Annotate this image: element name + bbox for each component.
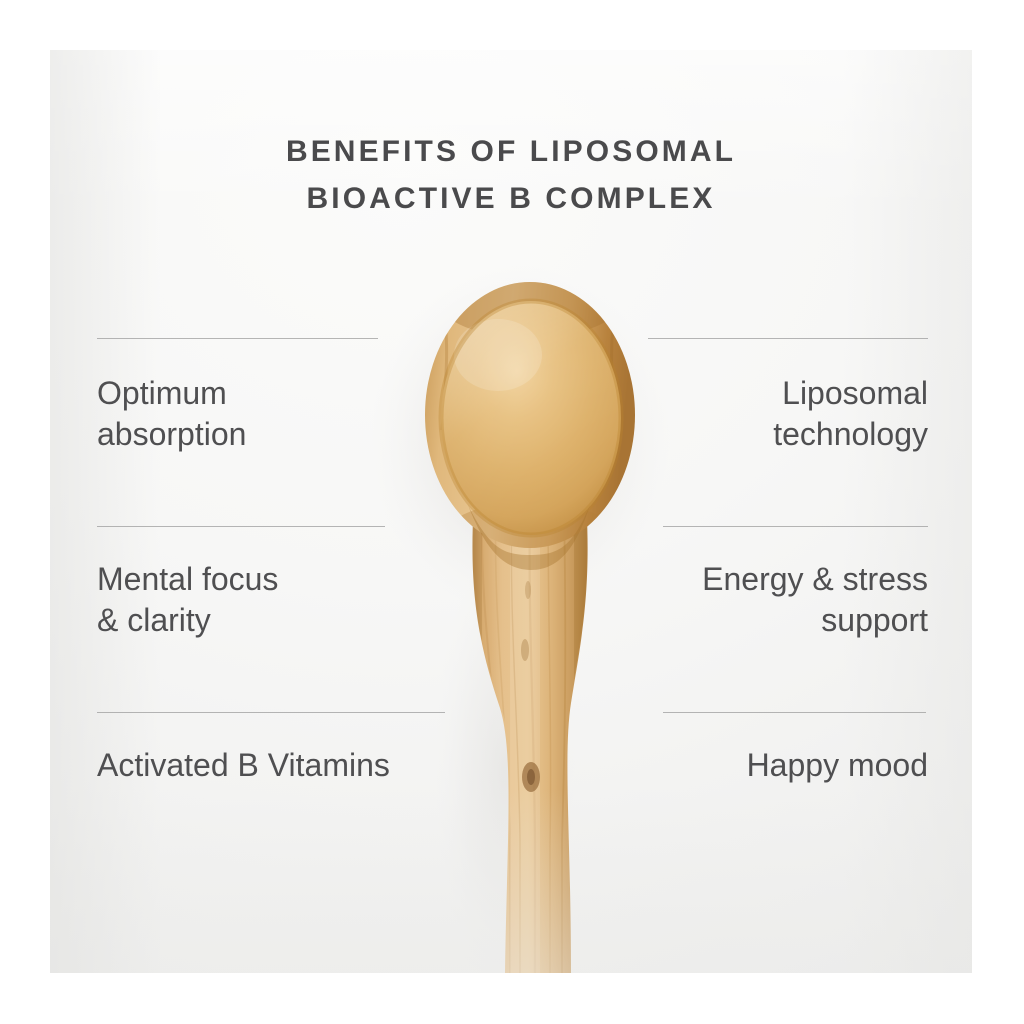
benefit-label: Mental focus & clarity (97, 527, 497, 641)
benefit-item-energy-stress-support: Energy & stress support (528, 526, 928, 641)
poster-canvas: BENEFITS OF LIPOSOMAL BIOACTIVE B COMPLE… (0, 0, 1024, 1024)
title-line-1: BENEFITS OF LIPOSOMAL (50, 128, 972, 175)
benefit-label: Liposomal technology (528, 339, 928, 455)
benefits-column-right: Liposomal technology Energy & stress sup… (528, 338, 928, 786)
divider-line (97, 712, 445, 713)
divider-line (97, 338, 378, 339)
benefit-item-optimum-absorption: Optimum absorption (97, 338, 497, 455)
benefit-item-mental-focus-clarity: Mental focus & clarity (97, 526, 497, 641)
benefit-item-activated-b-vitamins: Activated B Vitamins (97, 712, 497, 786)
benefit-label: Optimum absorption (97, 339, 497, 455)
benefits-column-left: Optimum absorption Mental focus & clarit… (97, 338, 497, 786)
benefit-item-liposomal-technology: Liposomal technology (528, 338, 928, 455)
title-line-2: BIOACTIVE B COMPLEX (50, 175, 972, 222)
product-photo: BENEFITS OF LIPOSOMAL BIOACTIVE B COMPLE… (50, 50, 972, 973)
divider-line (97, 526, 385, 527)
benefit-label: Energy & stress support (528, 527, 928, 641)
benefit-label: Happy mood (528, 713, 928, 786)
divider-line (663, 712, 926, 713)
divider-line (648, 338, 928, 339)
benefit-item-happy-mood: Happy mood (528, 712, 928, 786)
page-title: BENEFITS OF LIPOSOMAL BIOACTIVE B COMPLE… (50, 128, 972, 222)
benefit-label: Activated B Vitamins (97, 713, 497, 786)
divider-line (663, 526, 928, 527)
